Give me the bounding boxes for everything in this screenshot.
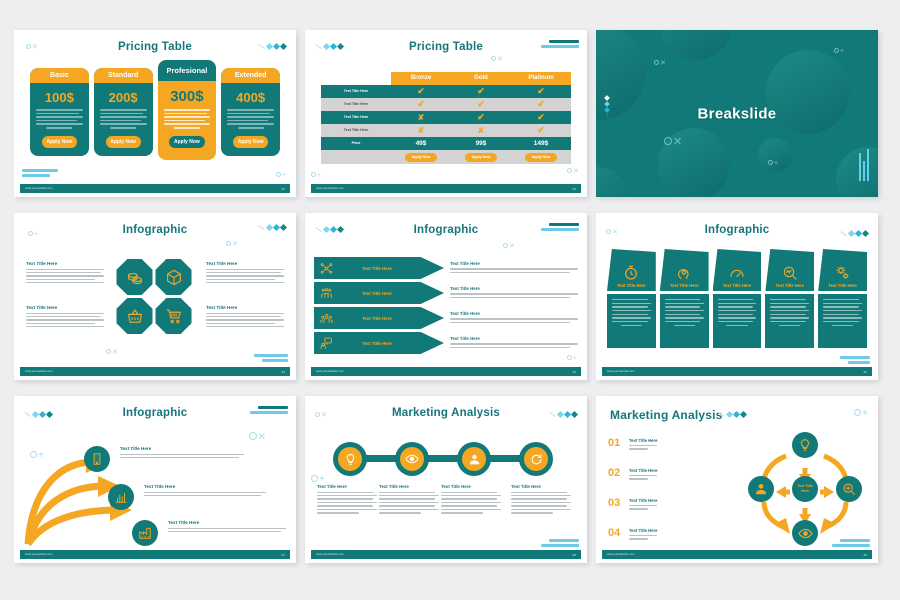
block-heading: Text Title Here <box>168 520 286 525</box>
presenter-icon <box>314 332 338 354</box>
bar-decoration <box>254 354 288 362</box>
gauge-icon <box>729 265 745 281</box>
footer-website: www.yourwebsite.com <box>25 370 53 373</box>
row-label: Text Title Here <box>321 89 391 94</box>
table-header-row: Bronze Gold Platinum <box>321 72 571 85</box>
page-number: 25 <box>572 370 576 374</box>
text-block: Text Title Here <box>206 261 284 285</box>
text-block: Text Title Here <box>120 446 244 460</box>
page-title: Marketing Analysis <box>610 408 723 422</box>
page-title: Infographic <box>305 224 587 236</box>
plan-description <box>94 109 153 129</box>
circle-cross-decoration: ✕ <box>654 58 666 67</box>
slide-marketing-analysis-chain[interactable]: ✕ Marketing Analysis + <box>305 396 587 563</box>
slide-footer: www.yourwebsite.com 25 <box>311 367 581 376</box>
arrow-row[interactable]: Text Title Here Text Title Here <box>314 257 578 279</box>
page-title: Pricing Table <box>305 41 587 53</box>
arrow-row[interactable]: Text Title Here Text Title Here <box>314 307 578 329</box>
panel-heading: Text Title Here <box>670 283 698 288</box>
table-row: Text Title Here ✘ ✘ ✔ <box>321 124 571 137</box>
row-label: Text Title Here <box>321 128 391 133</box>
text-block: Text Title Here <box>26 305 104 329</box>
cross-icon: ✘ <box>418 126 425 135</box>
block-heading: Text Title Here <box>206 261 284 266</box>
bar-decoration <box>840 356 870 364</box>
search-chart-icon <box>782 265 798 281</box>
panel-body <box>713 294 762 348</box>
panel-body <box>818 294 867 348</box>
factory-icon[interactable] <box>132 520 158 546</box>
text-block: Text Title Here <box>379 484 439 516</box>
stopwatch-icon <box>623 265 639 281</box>
footer-website: www.yourwebsite.com <box>316 553 344 556</box>
slide-footer: www.yourwebsite.com 29 <box>602 550 872 559</box>
block-heading: Text Title Here <box>629 528 657 533</box>
check-icon: ✔ <box>537 99 545 109</box>
panel-heading: Text Title Here <box>828 283 856 288</box>
apply-now-button[interactable]: Apply Now <box>42 136 77 148</box>
slide-footer: www.yourwebsite.com 27 <box>20 550 290 559</box>
block-heading: Text Title Here <box>450 261 578 266</box>
panel-item[interactable]: Text Title Here <box>607 249 656 348</box>
apply-now-button[interactable]: Apply Now <box>465 153 498 162</box>
circle-plus-decoration: + <box>768 158 778 167</box>
bar-decoration <box>832 539 870 547</box>
page-number: 29 <box>863 553 867 557</box>
check-icon: ✔ <box>477 112 485 122</box>
arrow-label: Text Title Here <box>338 332 444 354</box>
slide-marketing-analysis-diagram[interactable]: Marketing Analysis + 01 Text Title Here … <box>596 396 878 563</box>
text-block: Text Title Here <box>317 484 377 516</box>
text-block: Text Title Here <box>144 484 266 498</box>
block-heading: Text Title Here <box>206 305 284 310</box>
plan-name: Standard <box>94 68 153 83</box>
footer-website: www.yourwebsite.com <box>607 553 635 556</box>
arrow-row[interactable]: Text Title Here Text Title Here <box>314 332 578 354</box>
panel-item[interactable]: Text Title Here <box>818 249 867 348</box>
circle-plus-decoration: + <box>567 353 577 362</box>
column-header-gold: Gold <box>451 72 511 85</box>
plan-price: 100$ <box>30 90 89 105</box>
item-number: 04 <box>608 528 624 539</box>
slide-infographic-swoosh[interactable]: Infographic ✕ + Text Title Here Text Tit… <box>14 396 296 563</box>
table-row: Text Title Here ✘ ✔ ✔ <box>321 111 571 124</box>
plan-name: Profesional <box>158 60 217 81</box>
chain-diagram <box>319 442 573 476</box>
text-block: Text Title Here <box>629 468 657 482</box>
circle-plus-decoration: + <box>311 170 321 179</box>
breakslide-title: Breakslide <box>596 105 878 122</box>
arrow-row[interactable]: Text Title Here Text Title Here <box>314 282 578 304</box>
network-icon <box>314 257 338 279</box>
table-cta-row: Apply Now Apply Now Apply Now <box>321 150 571 164</box>
chain-node[interactable] <box>457 442 491 476</box>
text-block: Text Title Here <box>441 484 501 516</box>
plan-description <box>221 109 280 129</box>
plan-price: 400$ <box>221 90 280 105</box>
block-heading: Text Title Here <box>26 261 104 266</box>
check-icon: ✔ <box>477 86 485 96</box>
table-row: Text Title Here ✔ ✔ ✔ <box>321 98 571 111</box>
list-item[interactable]: 01 Text Title Here <box>608 438 756 452</box>
page-number: 26 <box>863 370 867 374</box>
column-header-platinum: Platinum <box>511 72 571 85</box>
price-gold: 99$ <box>451 140 511 147</box>
row-label: Price <box>321 141 391 146</box>
panel-heading: Text Title Here <box>617 283 645 288</box>
pricing-card-basic[interactable]: Basic 100$ Apply Now <box>30 68 89 156</box>
slide-infographic-arrows[interactable]: Infographic ✕ Text Title Here Text Title… <box>305 213 587 380</box>
octagon-icon-group <box>117 259 194 336</box>
panel-list: Text Title Here Text Title Here <box>607 249 867 348</box>
circle-plus-decoration: + <box>834 46 844 55</box>
check-icon: ✔ <box>477 99 485 109</box>
circle-cross-decoration: ✕ <box>226 239 238 248</box>
panel-body <box>660 294 709 348</box>
price-platinum: 149$ <box>511 140 571 147</box>
page-number: 22 <box>281 187 285 191</box>
chain-node[interactable] <box>519 442 553 476</box>
table-price-row: Price 49$ 99$ 149$ <box>321 137 571 150</box>
pricing-card-standard[interactable]: Standard 200$ Apply Now <box>94 68 153 156</box>
item-number: 01 <box>608 438 624 449</box>
item-number: 03 <box>608 498 624 509</box>
text-block: Text Title Here <box>629 438 657 452</box>
list-item[interactable]: 03 Text Title Here <box>608 498 756 512</box>
circle-cross-decoration: ✕ <box>491 54 503 63</box>
block-heading: Text Title Here <box>450 286 578 291</box>
circle-cross-decoration: ✕ <box>503 241 515 250</box>
text-block: Text Title Here <box>450 311 578 325</box>
page-title: Infographic <box>596 224 878 236</box>
apply-now-button[interactable]: Apply Now <box>525 153 558 162</box>
row-label: Text Title Here <box>321 102 391 107</box>
panel-item[interactable]: Text Title Here <box>660 249 709 348</box>
plan-description <box>30 109 89 129</box>
eye-icon[interactable] <box>792 520 818 546</box>
panel-item[interactable]: Text Title Here <box>713 249 762 348</box>
text-block: Text Title Here <box>450 336 578 350</box>
plan-description <box>158 109 217 129</box>
text-block: Text Title Here <box>450 286 578 300</box>
slide-breakslide[interactable]: ✕ + ✕ + Breakslide <box>596 30 878 197</box>
slide-footer: www.yourwebsite.com 26 <box>602 367 872 376</box>
lightbulb-icon[interactable] <box>792 432 818 458</box>
gears-icon <box>835 265 851 281</box>
panel-body <box>607 294 656 348</box>
block-heading: Text Title Here <box>26 305 104 310</box>
cross-icon: ✘ <box>418 113 425 122</box>
table-row: Text Title Here ✔ ✔ ✔ <box>321 85 571 98</box>
page-title: Infographic <box>14 407 296 419</box>
chart-bar-icon[interactable] <box>108 484 134 510</box>
box-icon[interactable] <box>156 259 192 295</box>
plan-name: Extended <box>221 68 280 83</box>
page-title: Infographic <box>14 224 296 236</box>
text-block: Text Title Here <box>450 261 578 275</box>
slide-footer: www.yourwebsite.com 24 <box>20 367 290 376</box>
apply-now-button[interactable]: Apply Now <box>405 153 438 162</box>
circle-cross-decoration: ✕ <box>106 347 118 356</box>
check-icon: ✔ <box>417 99 425 109</box>
apply-now-button[interactable]: Apply Now <box>106 136 141 148</box>
chain-node[interactable] <box>395 442 429 476</box>
check-icon: ✔ <box>537 125 545 135</box>
page-title: Pricing Table <box>14 41 296 53</box>
slide-footer: www.yourwebsite.com 28 <box>311 550 581 559</box>
block-heading: Text Title Here <box>629 498 657 503</box>
check-icon: ✔ <box>537 86 545 96</box>
block-heading: Text Title Here <box>450 311 578 316</box>
item-number: 02 <box>608 468 624 479</box>
text-block: Text Title Here <box>26 261 104 285</box>
money-icon[interactable] <box>117 259 153 295</box>
teamwork-icon <box>314 282 338 304</box>
bar-decoration <box>22 169 58 177</box>
block-heading: Text Title Here <box>120 446 244 451</box>
bar-decoration <box>541 539 579 547</box>
panel-item[interactable]: Text Title Here <box>765 249 814 348</box>
text-block: Text Title Here <box>206 305 284 329</box>
block-heading: Text Title Here <box>629 468 657 473</box>
check-icon: ✔ <box>417 86 425 96</box>
plan-price: 200$ <box>94 90 153 105</box>
plan-price: 300$ <box>158 88 217 105</box>
block-heading: Text Title Here <box>441 484 501 489</box>
list-item[interactable]: 04 Text Title Here <box>608 528 756 542</box>
slide-footer: www.yourwebsite.com 22 <box>20 184 290 193</box>
slide-infographic-octagons[interactable]: + Infographic ✕ <box>14 213 296 380</box>
list-item[interactable]: 02 Text Title Here <box>608 468 756 482</box>
circle-cross-decoration: ✕ <box>567 166 579 175</box>
cross-icon: ✘ <box>478 126 485 135</box>
group-icon <box>314 307 338 329</box>
block-heading: Text Title Here <box>144 484 266 489</box>
refresh-icon <box>524 447 548 471</box>
slide-pricing-table-cards[interactable]: ✕ Pricing Table Basic 100$ Apply Now Sta… <box>14 30 296 197</box>
building-icon[interactable] <box>84 446 110 472</box>
circle-cross-decoration: ✕ <box>664 134 682 148</box>
footer-website: www.yourwebsite.com <box>316 370 344 373</box>
block-heading: Text Title Here <box>379 484 439 489</box>
circle-plus-decoration: + <box>276 170 286 179</box>
block-heading: Text Title Here <box>450 336 578 341</box>
blob-decoration <box>836 147 878 197</box>
page-title: Marketing Analysis <box>305 407 587 419</box>
circle-cross-decoration: ✕ <box>249 430 266 443</box>
panel-heading: Text Title Here <box>776 283 804 288</box>
block-heading: Text Title Here <box>511 484 571 489</box>
footer-website: www.yourwebsite.com <box>607 370 635 373</box>
pricing-card-extended[interactable]: Extended 400$ Apply Now <box>221 68 280 156</box>
diamond-decoration <box>718 412 746 417</box>
user-icon[interactable] <box>748 476 774 502</box>
shopping-cart-icon[interactable] <box>156 298 192 334</box>
apply-now-button[interactable]: Apply Now <box>169 136 204 148</box>
page-number: 27 <box>281 553 285 557</box>
text-block: Text Title Here <box>629 498 657 512</box>
panel-heading: Text Title Here <box>723 283 751 288</box>
pricing-card-profesional[interactable]: Profesional 300$ Apply Now <box>158 60 217 160</box>
blob-decoration <box>660 30 732 60</box>
eye-icon <box>400 447 424 471</box>
page-number: 28 <box>572 553 576 557</box>
footer-website: www.yourwebsite.com <box>25 553 53 556</box>
diagram-center-label: Text Title Here <box>792 476 818 502</box>
page-number: 23 <box>572 187 576 191</box>
slide-deck-grid: ✕ Pricing Table Basic 100$ Apply Now Sta… <box>0 0 900 600</box>
chain-node[interactable] <box>333 442 367 476</box>
pricing-card-list: Basic 100$ Apply Now Standard 200$ Apply… <box>30 68 280 160</box>
circle-plus-decoration: + <box>854 406 868 419</box>
head-gear-icon <box>676 265 692 281</box>
slide-pricing-table-matrix[interactable]: Pricing Table ✕ Bronze Gold Platinum Tex… <box>305 30 587 197</box>
row-label: Text Title Here <box>321 115 391 120</box>
basket-icon[interactable] <box>117 298 153 334</box>
block-heading: Text Title Here <box>317 484 377 489</box>
slide-infographic-panels[interactable]: ✕ Infographic Text Title Here Text Tit <box>596 213 878 380</box>
arrow-label: Text Title Here <box>338 307 444 329</box>
text-block: Text Title Here <box>168 520 286 534</box>
arrow-label: Text Title Here <box>338 282 444 304</box>
text-block: Text Title Here <box>511 484 571 516</box>
pricing-matrix-table[interactable]: Bronze Gold Platinum Text Title Here ✔ ✔… <box>321 72 571 164</box>
vertical-bar-decoration <box>859 149 869 181</box>
footer-website: www.yourwebsite.com <box>316 187 344 190</box>
blob-decoration <box>596 167 628 197</box>
search-icon[interactable] <box>836 476 862 502</box>
price-bronze: 49$ <box>391 140 451 147</box>
apply-now-button[interactable]: Apply Now <box>233 136 268 148</box>
block-heading: Text Title Here <box>629 438 657 443</box>
page-number: 24 <box>281 370 285 374</box>
user-icon <box>462 447 486 471</box>
lightbulb-icon <box>338 447 362 471</box>
arrow-label: Text Title Here <box>338 257 444 279</box>
plan-name: Basic <box>30 68 89 83</box>
column-header-bronze: Bronze <box>391 72 451 85</box>
slide-footer: www.yourwebsite.com 23 <box>311 184 581 193</box>
panel-body <box>765 294 814 348</box>
check-icon: ✔ <box>537 112 545 122</box>
footer-website: www.yourwebsite.com <box>25 187 53 190</box>
text-block: Text Title Here <box>629 528 657 542</box>
